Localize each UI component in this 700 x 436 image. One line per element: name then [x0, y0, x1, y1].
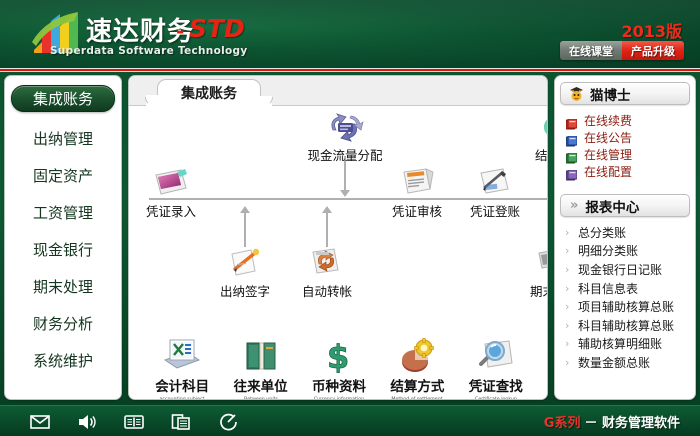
quick-item-account-subject[interactable]: 会计科目 accounting subject — [145, 338, 219, 400]
online-renew-icon — [566, 115, 577, 126]
clock-check-icon[interactable] — [218, 413, 238, 431]
service-item-label: 在线配置 — [584, 163, 632, 180]
flow-arrow-cashflow — [340, 190, 350, 197]
chevron-right-icon: › — [565, 244, 571, 257]
chevron-right-icon: › — [565, 356, 571, 369]
cat-professor-icon — [568, 85, 585, 102]
report-item-qty-amount-ledger[interactable]: › 数量金额总账 — [565, 353, 690, 372]
flow-diagram-canvas: 现金流量分配 结转损益 — [129, 106, 548, 400]
report-item-label: 科目辅助核算总账 — [578, 317, 674, 334]
flow-node-label: 结转损益 — [525, 145, 548, 164]
flow-node-fx-revaluation[interactable]: 31 期末调汇 — [519, 246, 548, 300]
quick-item-voucher-search[interactable]: 凭证查找 Certificate lookup — [459, 338, 533, 400]
chevron-right-icon: › — [565, 337, 571, 350]
service-item-online-renew[interactable]: 在线续费 — [566, 112, 690, 129]
flow-node-cashier-signature[interactable]: 出纳签字 — [209, 246, 281, 300]
application-window: 速达财务 - STD Superdata Software Technology… — [0, 0, 700, 436]
flow-node-label: 凭证录入 — [135, 201, 207, 220]
voucher-entry-icon — [151, 166, 191, 200]
flow-node-label: 凭证审核 — [381, 201, 453, 220]
cashier-sign-icon — [225, 246, 265, 280]
report-item-label: 现金银行日记账 — [578, 261, 662, 278]
quick-item-label: 结算方式 — [380, 375, 454, 395]
quick-item-business-partner[interactable]: 往来单位 Between units — [224, 338, 298, 400]
status-bar-icons — [30, 406, 238, 436]
report-list: › 总分类账 › 明细分类账 › 现金银行日记账 › 科目信息表 › 项目辅 — [560, 223, 690, 372]
mail-icon[interactable] — [30, 413, 50, 431]
quick-item-label: 往来单位 — [224, 375, 298, 395]
body-area: 集成账务 出纳管理 固定资产 工资管理 现金银行 期末处理 财务分析 系统维护 … — [0, 72, 700, 405]
chevron-right-icon: › — [565, 226, 571, 239]
chevron-right-icon: › — [565, 263, 571, 276]
sidebar-item-system-maintenance[interactable]: 系统维护 — [11, 343, 115, 380]
product-upgrade-button[interactable]: 产品升级 — [622, 41, 684, 60]
svg-text:$: $ — [327, 338, 349, 374]
flow-node-pl-transfer[interactable]: 结转损益 — [525, 110, 548, 164]
sidebar-item-period-end[interactable]: 期末处理 — [11, 269, 115, 306]
quick-item-settlement[interactable]: 结算方式 Method of settlement — [380, 338, 454, 400]
sidebar-item-financial-analysis[interactable]: 财务分析 — [11, 306, 115, 343]
cat-doctor-header[interactable]: 猫博士 — [560, 82, 690, 105]
app-header: 速达财务 - STD Superdata Software Technology… — [0, 0, 700, 68]
edition-label: STD — [189, 14, 245, 43]
flow-line-cashier-sign — [244, 213, 246, 247]
report-item-cash-bank-journal[interactable]: › 现金银行日记账 — [565, 260, 690, 279]
chevron-double-right-icon: » — [570, 198, 578, 213]
service-item-online-manage[interactable]: 在线管理 — [566, 146, 690, 163]
report-item-label: 辅助核算明细账 — [578, 335, 662, 352]
chevron-right-icon: › — [565, 282, 571, 295]
report-center-label: 报表中心 — [585, 196, 639, 216]
report-item-label: 数量金额总账 — [578, 354, 650, 371]
footer-brand: G系列 － 财务管理软件 — [544, 406, 680, 436]
brand-product-label: － 财务管理软件 — [584, 412, 680, 431]
quick-access-row: 会计科目 accounting subject — [129, 338, 548, 400]
chevron-right-icon: › — [565, 319, 571, 332]
flow-node-voucher-posting[interactable]: 凭证登账 — [459, 166, 531, 220]
flow-node-label: 自动转帐 — [291, 281, 363, 300]
report-item-general-ledger[interactable]: › 总分类账 — [565, 223, 690, 242]
quick-item-sublabel: Between units — [225, 396, 295, 400]
version-badge: 2013版 — [621, 18, 682, 42]
report-item-label: 总分类账 — [578, 224, 626, 241]
online-config-icon — [566, 166, 577, 177]
quick-item-label: 凭证查找 — [459, 375, 533, 395]
sidebar-item-payroll[interactable]: 工资管理 — [11, 195, 115, 232]
chevron-right-icon: › — [565, 300, 571, 313]
speaker-icon[interactable] — [77, 413, 97, 431]
voucher-audit-icon — [397, 166, 437, 200]
report-item-label: 科目信息表 — [578, 280, 638, 297]
account-subject-icon — [161, 338, 203, 374]
quick-item-sublabel: accounting subject — [147, 396, 217, 400]
auto-transfer-icon — [307, 246, 347, 280]
sidebar-item-cashier[interactable]: 出纳管理 — [11, 121, 115, 158]
recycle-arrows-icon — [325, 110, 365, 144]
report-item-project-aux-ledger[interactable]: › 项目辅助核算总账 — [565, 297, 690, 316]
sidebar-item-fixed-assets[interactable]: 固定资产 — [11, 158, 115, 195]
content-panel: 集成账务 — [128, 75, 548, 400]
status-bar: G系列 － 财务管理软件 — [0, 405, 700, 436]
report-center-header[interactable]: » 报表中心 — [560, 194, 690, 217]
flow-node-label: 现金流量分配 — [305, 145, 385, 164]
flow-node-voucher-audit[interactable]: 凭证审核 — [381, 166, 453, 220]
flow-node-label: 期末调汇 — [519, 281, 548, 300]
company-subtitle: Superdata Software Technology — [50, 45, 247, 57]
flow-node-label: 凭证登账 — [459, 201, 531, 220]
report-item-aux-detail-ledger[interactable]: › 辅助核算明细账 — [565, 335, 690, 354]
service-item-online-config[interactable]: 在线配置 — [566, 163, 690, 180]
online-service-list: 在线续费 在线公告 在线管理 — [560, 112, 690, 180]
quick-item-label: 币种资料 — [302, 375, 376, 395]
voucher-search-icon — [475, 338, 517, 374]
report-item-subsidiary-ledger[interactable]: › 明细分类账 — [565, 242, 690, 261]
report-item-account-info[interactable]: › 科目信息表 — [565, 279, 690, 298]
service-item-label: 在线管理 — [584, 146, 632, 163]
brand-series-label: G系列 — [544, 412, 581, 431]
book-icon[interactable] — [124, 413, 144, 431]
service-item-label: 在线续费 — [584, 112, 632, 129]
online-notice-icon — [566, 132, 577, 143]
flow-node-label: 出纳签字 — [209, 281, 281, 300]
report-item-label: 项目辅助核算总账 — [578, 298, 674, 315]
currency-icon: $ $ — [318, 338, 360, 374]
voucher-post-icon — [475, 166, 515, 200]
online-classroom-button[interactable]: 在线课堂 — [560, 41, 622, 60]
fx-revalue-icon: 31 — [535, 246, 548, 280]
sidebar-item-cash-bank[interactable]: 现金银行 — [11, 232, 115, 269]
logo-dash: - — [176, 19, 184, 43]
copy-icon[interactable] — [171, 413, 191, 431]
service-item-online-notice[interactable]: 在线公告 — [566, 129, 690, 146]
settlement-icon — [396, 338, 438, 374]
header-button-group: 在线课堂 产品升级 — [560, 41, 684, 60]
flow-node-cashflow-allocation[interactable]: 现金流量分配 — [305, 110, 385, 164]
flow-arrow-cashier-sign — [240, 206, 250, 213]
quick-item-sublabel: Certificate lookup — [461, 396, 531, 400]
cat-doctor-label: 猫博士 — [590, 84, 631, 104]
quick-item-currency[interactable]: $ $ 币种资料 Currency information — [302, 338, 376, 400]
flow-node-auto-transfer[interactable]: 自动转帐 — [291, 246, 363, 300]
flow-line-auto-transfer — [326, 213, 328, 247]
report-item-account-aux-ledger[interactable]: › 科目辅助核算总账 — [565, 316, 690, 335]
report-item-label: 明细分类账 — [578, 242, 638, 259]
right-panel: 猫博士 在线续费 在线公告 — [554, 75, 696, 400]
flow-node-voucher-entry[interactable]: 凭证录入 — [135, 166, 207, 220]
business-partner-icon — [240, 338, 282, 374]
tab-integrated-accounting[interactable]: 集成账务 — [157, 79, 261, 106]
sidebar-item-integrated-accounting[interactable]: 集成账务 — [11, 85, 115, 112]
tab-strip: 集成账务 — [129, 76, 548, 106]
online-manage-icon — [566, 149, 577, 160]
quick-item-sublabel: Currency information — [304, 396, 374, 400]
flow-arrow-auto-transfer — [322, 206, 332, 213]
ring-transfer-icon — [540, 110, 548, 144]
service-item-label: 在线公告 — [584, 129, 632, 146]
quick-item-label: 会计科目 — [145, 375, 219, 395]
sidebar: 集成账务 出纳管理 固定资产 工资管理 现金银行 期末处理 财务分析 系统维护 — [4, 75, 122, 400]
quick-item-sublabel: Method of settlement — [382, 396, 452, 400]
